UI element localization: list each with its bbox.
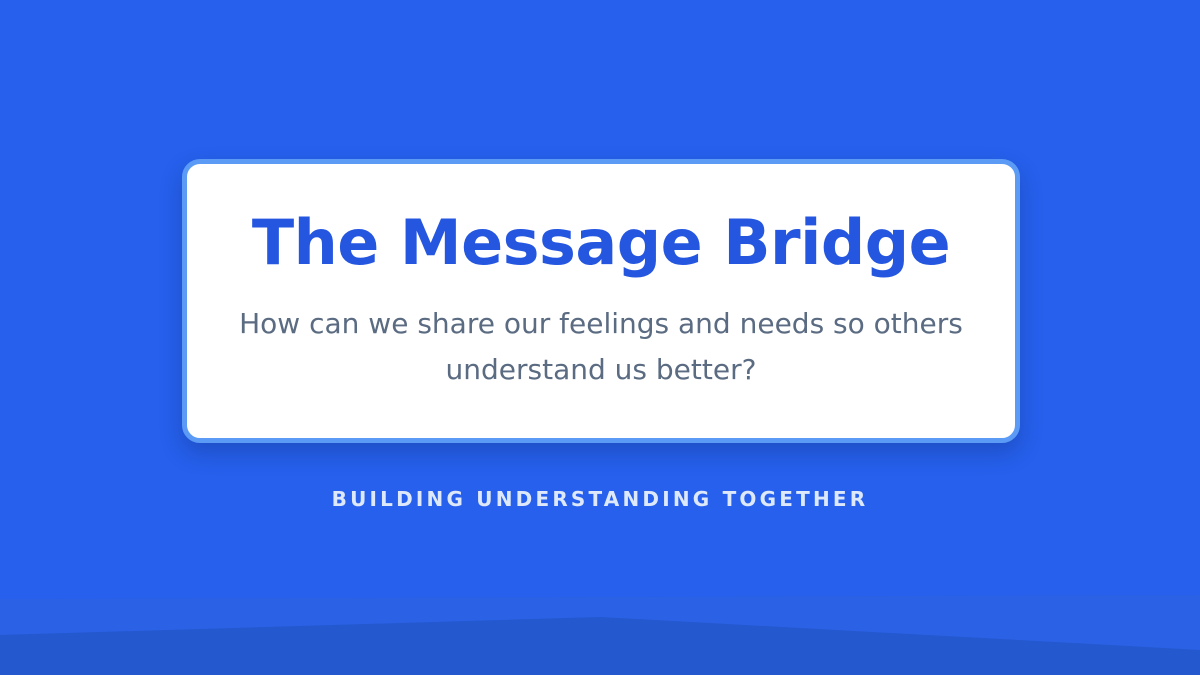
wave-decoration-icon <box>0 565 1200 675</box>
page-title: The Message Bridge <box>252 210 950 275</box>
card-subtitle: How can we share our feelings and needs … <box>236 301 966 392</box>
footer-tagline: BUILDING UNDERSTANDING TOGETHER <box>0 487 1200 511</box>
title-card: The Message Bridge How can we share our … <box>182 159 1020 443</box>
title-slide: The Message Bridge How can we share our … <box>0 0 1200 675</box>
